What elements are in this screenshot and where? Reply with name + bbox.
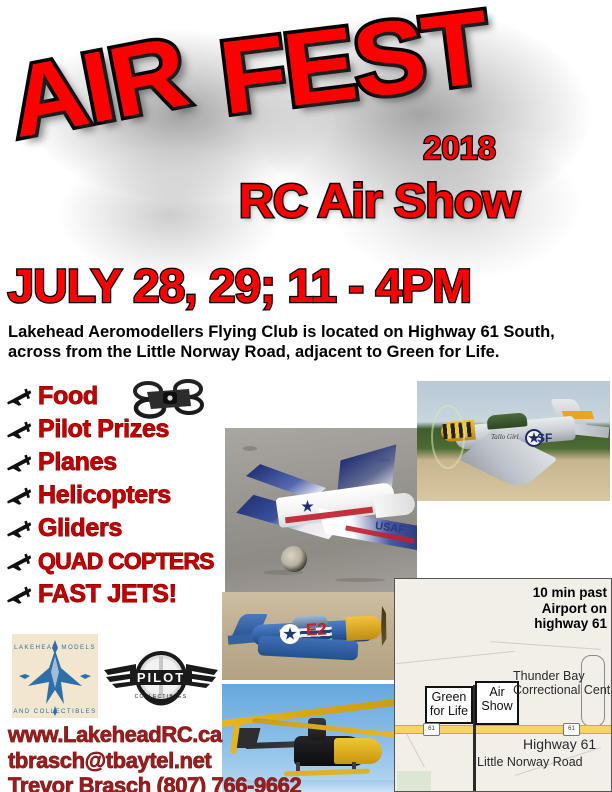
- list-item: Planes: [4, 446, 244, 479]
- map-box-line: Air: [489, 685, 504, 699]
- feature-label: Food: [38, 382, 98, 411]
- map-label-little-norway-road: Little Norway Road: [477, 755, 583, 769]
- list-item: Gliders: [4, 512, 244, 545]
- highway-shield-icon: 61: [423, 723, 440, 736]
- map-minor-road: [395, 651, 514, 665]
- list-item: Food: [4, 380, 244, 413]
- feature-label: FAST JETS!: [38, 580, 177, 609]
- rc-jet-usaf-photo: USAF: [225, 428, 417, 593]
- feature-label: QUAD COPTERS: [38, 548, 214, 575]
- airplane-icon: [4, 518, 34, 540]
- map-green-area: [397, 771, 431, 791]
- airplane-icon: [4, 584, 34, 606]
- map-label-correctional-centre: Thunder Bay: [513, 669, 585, 683]
- lakehead-models-logo: LAKEHEAD MODELS AND COLLECTIBLES: [12, 634, 98, 718]
- headline-group: AIR FEST 2018 RC Air Show: [0, 0, 612, 250]
- airplane-icon: [4, 419, 34, 441]
- title-word-fest: FEST: [213, 0, 494, 139]
- p51-mustang-blue-photo: E2: [222, 592, 410, 680]
- mustang-squadron-code: SF: [537, 431, 552, 445]
- location-map: 10 min past Airport on highway 61 61 61 …: [394, 578, 612, 792]
- jet-nose: [374, 492, 416, 518]
- air-fest-poster: AIR FEST 2018 RC Air Show JULY 28, 29; 1…: [0, 0, 612, 792]
- p51-squadron-code: E2: [305, 619, 327, 640]
- feature-label: Planes: [38, 448, 117, 477]
- pilot-logo-sub-text: COLLECTIBLES: [135, 694, 188, 700]
- list-item: QUAD COPTERS: [4, 545, 244, 578]
- p51-mustang-silver-photo: SF Tallo Girl: [417, 381, 610, 501]
- usaf-star-insignia: [280, 624, 300, 644]
- map-box-line: for Life: [430, 704, 468, 718]
- website-link[interactable]: www.LakeheadRC.ca: [8, 722, 328, 748]
- location-description: Lakehead Aeromodellers Flying Club is lo…: [8, 322, 608, 362]
- heli-yellow-canopy: [334, 738, 382, 764]
- airplane-icon: [4, 452, 34, 474]
- pilot-logo-main-text: PILOT: [137, 670, 185, 685]
- airplane-icon: [4, 485, 34, 507]
- list-item: Pilot Prizes: [4, 413, 244, 446]
- airplane-icon: [4, 386, 34, 408]
- map-label-highway-61: Highway 61: [523, 736, 596, 752]
- mustang-nose-art: Tallo Girl: [491, 433, 519, 441]
- map-box-line: Green: [432, 690, 467, 704]
- contact-block: www.LakeheadRC.ca tbrasch@tbaytel.net Tr…: [8, 722, 328, 792]
- feature-list: Food Pilot Prizes Planes Helicopters Gli…: [4, 380, 244, 611]
- airplane-icon: [4, 551, 34, 573]
- event-dateline: JULY 28, 29; 11 - 4PM: [7, 258, 471, 313]
- map-minor-road: [405, 732, 425, 768]
- email-link[interactable]: tbrasch@tbaytel.net: [8, 748, 328, 774]
- lakehead-logo-top-text: LAKEHEAD MODELS: [14, 644, 96, 651]
- title-word-air: AIR: [0, 14, 195, 161]
- feature-label: Helicopters: [38, 481, 171, 510]
- phone-contact: Trevor Brasch (807) 766-9662: [8, 773, 328, 792]
- p51-yellow-nose: [345, 615, 382, 641]
- map-label-correctional-centre: Correctional Centre: [513, 683, 612, 697]
- feature-label: Gliders: [38, 514, 122, 543]
- pilot-collectibles-logo: PILOT COLLECTIBLES: [102, 648, 220, 706]
- map-callout-text: 10 min past Airport on highway 61: [503, 585, 607, 632]
- map-minor-road: [491, 641, 601, 650]
- quadcopter-drone-photo: [133, 378, 205, 420]
- highway-shield-icon: 61: [563, 723, 580, 736]
- list-item: FAST JETS!: [4, 578, 244, 611]
- title-subtitle: RC Air Show: [239, 173, 519, 228]
- map-box-green-for-life: Green for Life: [425, 686, 473, 724]
- map-box-line: Show: [481, 699, 512, 713]
- map-little-norway-road-line: [473, 725, 476, 791]
- jet-nose-wheel: [281, 546, 307, 572]
- lakehead-logo-bottom-text: AND COLLECTIBLES: [13, 708, 96, 715]
- mustang-propeller-disc: [431, 405, 465, 469]
- title-year: 2018: [423, 130, 496, 167]
- list-item: Helicopters: [4, 479, 244, 512]
